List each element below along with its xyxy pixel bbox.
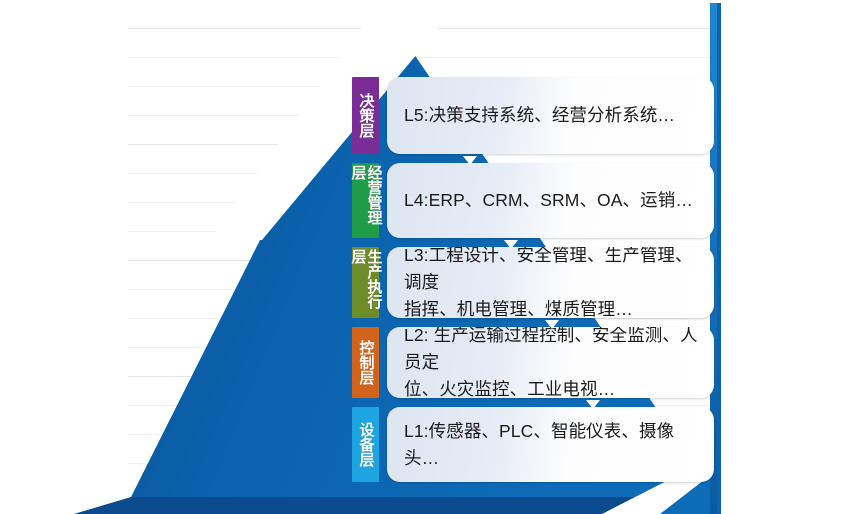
level-card-l4[interactable]: L4:ERP、CRM、SRM、OA、运销… [387,163,714,238]
connector-arrow-3 [545,320,559,329]
level-rows: 决策层 L5:决策支持系统、经营分析系统… 经营管理层 L4:ERP、CRM、S… [0,0,856,514]
level-text-l5: L5:决策支持系统、经营分析系统… [404,102,675,129]
level-tab-l5[interactable]: 决策层 [352,77,379,154]
level-card-l3[interactable]: L3:工程设计、安全管理、生产管理、调度 指挥、机电管理、煤质管理… [387,247,714,318]
connector-arrow-2 [504,240,518,249]
level-tab-l2[interactable]: 控制层 [352,327,379,398]
level-row-l3[interactable]: 生产执行层 L3:工程设计、安全管理、生产管理、调度 指挥、机电管理、煤质管理… [352,247,714,318]
level-row-l2[interactable]: 控制层 L2: 生产运输过程控制、安全监测、人员定 位、火灾监控、工业电视… [352,327,714,398]
level-card-l2[interactable]: L2: 生产运输过程控制、安全监测、人员定 位、火灾监控、工业电视… [387,327,714,398]
level-tab-l1[interactable]: 设备层 [352,407,379,482]
level-tab-l3[interactable]: 生产执行层 [352,247,379,318]
level-card-l1[interactable]: L1:传感器、PLC、智能仪表、摄像头… [387,407,714,482]
level-card-l5[interactable]: L5:决策支持系统、经营分析系统… [387,77,714,154]
level-text-l4: L4:ERP、CRM、SRM、OA、运销… [404,187,693,214]
connector-arrow-1 [463,156,477,165]
level-row-l1[interactable]: 设备层 L1:传感器、PLC、智能仪表、摄像头… [352,407,714,482]
level-row-l5[interactable]: 决策层 L5:决策支持系统、经营分析系统… [352,77,714,154]
connector-arrow-4 [586,400,600,409]
level-row-l4[interactable]: 经营管理层 L4:ERP、CRM、SRM、OA、运销… [352,163,714,238]
pyramid-diagram: 决策层 L5:决策支持系统、经营分析系统… 经营管理层 L4:ERP、CRM、S… [0,0,856,514]
level-text-l1: L1:传感器、PLC、智能仪表、摄像头… [404,418,700,472]
level-text-l2: L2: 生产运输过程控制、安全监测、人员定 位、火灾监控、工业电视… [404,327,700,398]
level-text-l3: L3:工程设计、安全管理、生产管理、调度 指挥、机电管理、煤质管理… [404,247,700,318]
level-tab-l4[interactable]: 经营管理层 [352,163,379,238]
